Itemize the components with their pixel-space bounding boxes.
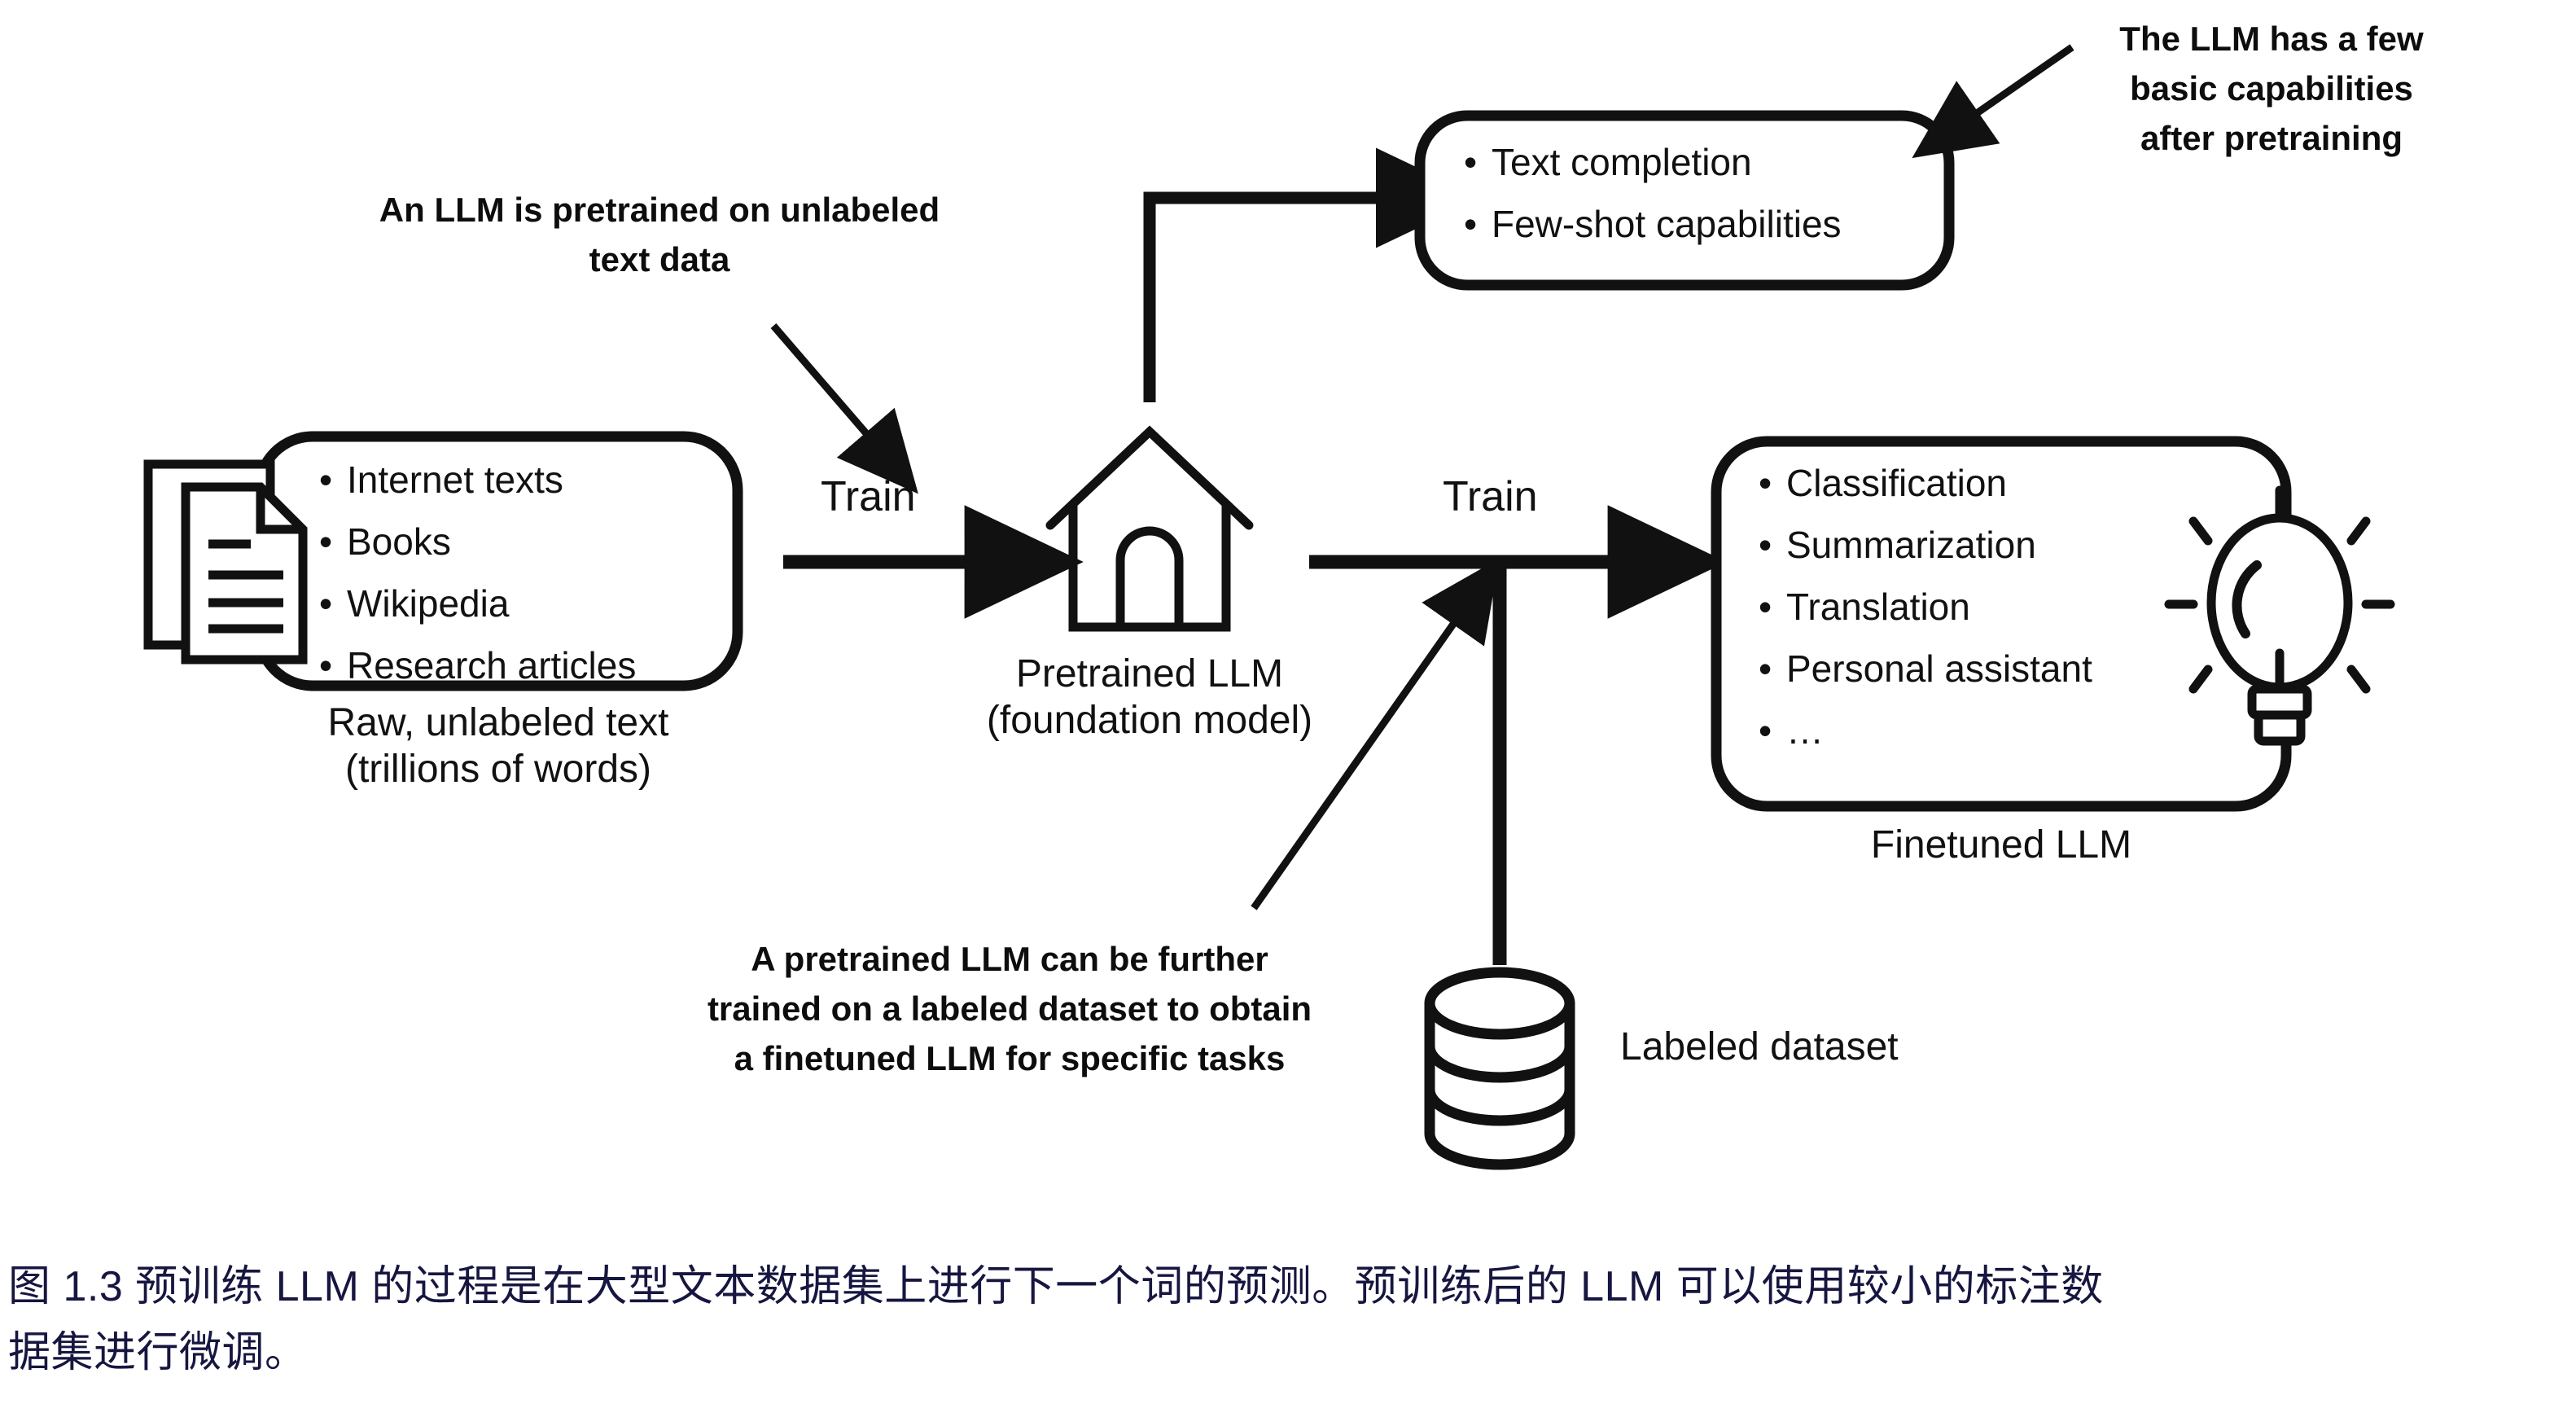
list-item-label: Text completion: [1492, 143, 1752, 181]
finetuned-bullets: • Classification • Summarization • Trans…: [1759, 464, 2272, 774]
capabilities-note-line3: after pretraining: [2084, 114, 2459, 164]
bullet-glyph: •: [1464, 143, 1492, 181]
capabilities-note-arrow: [1966, 47, 2072, 121]
train-label-1: Train: [821, 472, 916, 521]
list-item: • Books: [319, 523, 743, 560]
capabilities-bullets: • Text completion • Few-shot capabilitie…: [1464, 143, 1936, 267]
list-item-label: Internet texts: [347, 461, 563, 498]
pretrained-to-capabilities-arrow: [1150, 198, 1391, 402]
list-item-label: Books: [347, 523, 451, 560]
pretrained-llm-caption-line2: (foundation model): [905, 698, 1394, 744]
bullet-glyph: •: [1759, 464, 1786, 502]
finetuned-llm-caption: Finetuned LLM: [1716, 823, 2286, 869]
list-item: • Summarization: [1759, 526, 2272, 564]
figure-caption: 图 1.3 预训练 LLM 的过程是在大型文本数据集上进行下一个词的预测。预训练…: [8, 1254, 2565, 1385]
list-item: • Personal assistant: [1759, 650, 2272, 687]
figure-caption-line2: 据集进行微调。: [8, 1320, 2565, 1386]
bullet-glyph: •: [1464, 205, 1492, 243]
list-item: • Few-shot capabilities: [1464, 205, 1936, 243]
raw-text-bullets: • Internet texts • Books • Wikipedia • R…: [319, 461, 743, 709]
finetune-note-line3: a finetuned LLM for specific tasks: [651, 1034, 1368, 1084]
finetune-note-line2: trained on a labeled dataset to obtain: [651, 985, 1368, 1034]
list-item: • …: [1759, 712, 2272, 749]
finetune-note: A pretrained LLM can be further trained …: [651, 935, 1368, 1084]
list-item: • Text completion: [1464, 143, 1936, 181]
list-item-label: Personal assistant: [1786, 650, 2092, 687]
bullet-glyph: •: [319, 461, 347, 498]
train-label-2: Train: [1443, 472, 1538, 521]
list-item-label: Wikipedia: [347, 585, 509, 622]
list-item-label: Translation: [1786, 588, 1970, 625]
raw-text-caption: Raw, unlabeled text (trillions of words): [259, 700, 738, 792]
list-item: • Classification: [1759, 464, 2272, 502]
pretrained-llm-caption: Pretrained LLM (foundation model): [905, 652, 1394, 744]
list-item-label: Few-shot capabilities: [1492, 205, 1842, 243]
raw-text-caption-line1: Raw, unlabeled text: [259, 700, 738, 747]
list-item-label: Research articles: [347, 647, 636, 684]
bullet-glyph: •: [1759, 588, 1786, 625]
house-icon: [1050, 432, 1249, 627]
database-icon: [1430, 972, 1570, 1165]
pretrain-note-line1: An LLM is pretrained on unlabeled: [342, 186, 977, 235]
bullet-glyph: •: [1759, 650, 1786, 687]
list-item: • Wikipedia: [319, 585, 743, 622]
bullet-glyph: •: [319, 585, 347, 622]
bullet-glyph: •: [1759, 712, 1786, 749]
list-item-label: Summarization: [1786, 526, 2036, 564]
capabilities-note-line2: basic capabilities: [2084, 64, 2459, 114]
pretrain-note-arrow: [773, 326, 875, 444]
capabilities-note: The LLM has a few basic capabilities aft…: [2084, 15, 2459, 164]
list-item: • Internet texts: [319, 461, 743, 498]
pretrained-llm-caption-line1: Pretrained LLM: [905, 652, 1394, 698]
bullet-glyph: •: [319, 647, 347, 684]
list-item: • Translation: [1759, 588, 2272, 625]
bullet-glyph: •: [1759, 526, 1786, 564]
pretrain-note: An LLM is pretrained on unlabeled text d…: [342, 186, 977, 285]
figure-canvas: • Internet texts • Books • Wikipedia • R…: [0, 0, 2576, 1404]
list-item-label: Classification: [1786, 464, 2007, 502]
raw-text-caption-line2: (trillions of words): [259, 747, 738, 793]
bullet-glyph: •: [319, 523, 347, 560]
list-item: • Research articles: [319, 647, 743, 684]
labeled-dataset-label: Labeled dataset: [1620, 1024, 1899, 1069]
capabilities-note-line1: The LLM has a few: [2084, 15, 2459, 64]
pretrain-note-line2: text data: [342, 235, 977, 285]
finetune-note-line1: A pretrained LLM can be further: [651, 935, 1368, 985]
figure-caption-line1: 图 1.3 预训练 LLM 的过程是在大型文本数据集上进行下一个词的预测。预训练…: [8, 1254, 2565, 1320]
list-item-label: …: [1786, 712, 1824, 749]
